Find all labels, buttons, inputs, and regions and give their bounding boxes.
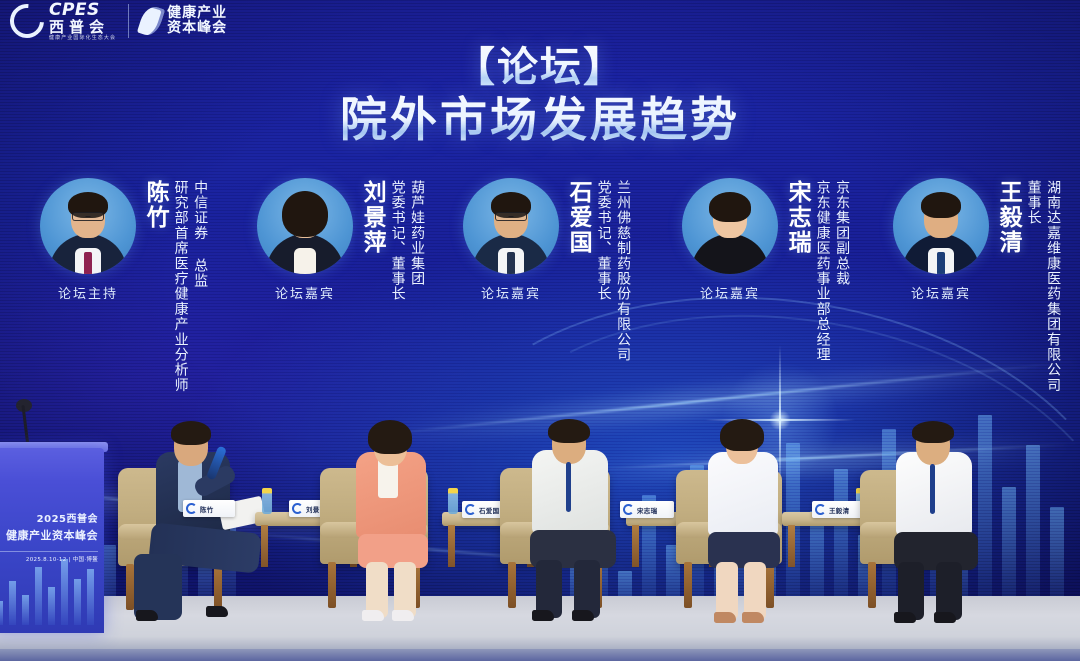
speaker-0-name: 陈竹 bbox=[143, 180, 167, 230]
forum-title-line1: 【论坛】 bbox=[0, 44, 1080, 91]
speaker-2-portrait bbox=[463, 178, 559, 274]
podium-banner: 2025西普会 健康产业资本峰会 2025.8.10-12 | 中国·博鳌 bbox=[0, 448, 104, 633]
podium-banner-text: 2025西普会 健康产业资本峰会 2025.8.10-12 | 中国·博鳌 bbox=[0, 510, 98, 563]
speaker-1-titles: 葫芦娃药业集团 党委书记、董事长 bbox=[386, 180, 425, 302]
panelist-2-person bbox=[520, 420, 630, 625]
speaker-2-name: 石爱国 bbox=[566, 180, 590, 255]
cpes-logo: CPES 西普会 健康产业国际化生态大会 bbox=[10, 2, 116, 41]
speaker-card-0: 论坛主持 陈竹 中信证券 总监 研究部首席医疗健康产业分析师 bbox=[36, 178, 208, 393]
speaker-4-title-line-1: 董事长 bbox=[1024, 180, 1042, 393]
panelist-4-person bbox=[884, 422, 994, 624]
nameplate-3-logo-icon bbox=[623, 504, 634, 515]
speaker-3-role: 论坛嘉宾 bbox=[700, 283, 760, 302]
speaker-2-glasses-icon bbox=[495, 212, 527, 221]
speaker-4-portrait bbox=[893, 178, 989, 274]
cpes-logo-cn: 西普会 bbox=[49, 20, 116, 36]
speaker-3-portrait bbox=[682, 178, 778, 274]
speaker-1-name: 刘景萍 bbox=[360, 180, 384, 255]
nameplate-0: 陈竹 bbox=[183, 500, 235, 517]
nameplate-2-name: 石爱国 bbox=[479, 505, 499, 515]
speaker-4-name: 王毅清 bbox=[996, 180, 1020, 255]
forum-title-block: 【论坛】 院外市场发展趋势 bbox=[0, 44, 1080, 148]
speaker-cards: 论坛主持 陈竹 中信证券 总监 研究部首席医疗健康产业分析师 论坛嘉宾 刘景萍 bbox=[0, 178, 1080, 438]
speaker-4-titles: 湖南达嘉维康医药集团有限公司 董事长 bbox=[1022, 180, 1061, 393]
nameplate-1-logo-icon bbox=[292, 503, 303, 514]
speaker-2-role: 论坛嘉宾 bbox=[481, 283, 541, 302]
leaf-icon bbox=[137, 4, 165, 39]
speaker-1-title-line-0: 葫芦娃药业集团 bbox=[408, 180, 426, 302]
health-logo-line2: 资本峰会 bbox=[167, 21, 227, 36]
nameplate-4-logo-icon bbox=[815, 504, 826, 515]
water-bottle-0 bbox=[262, 488, 272, 514]
stage-riser-edge bbox=[0, 649, 1080, 661]
panelist-0-person bbox=[142, 424, 262, 624]
speaker-4-role: 论坛嘉宾 bbox=[911, 283, 971, 302]
speaker-card-2: 论坛嘉宾 石爱国 兰州佛慈制药股份有限公司 党委书记、董事长 bbox=[459, 178, 631, 362]
nameplate-0-logo-icon bbox=[186, 503, 197, 514]
speaker-2-title-line-1: 党委书记、董事长 bbox=[594, 180, 612, 362]
event-logo-bar: CPES 西普会 健康产业国际化生态大会 健康产业 资本峰会 bbox=[10, 2, 227, 41]
nameplate-4: 王毅清 bbox=[812, 501, 866, 518]
panelist-1-person bbox=[340, 424, 450, 624]
nameplate-0-name: 陈竹 bbox=[200, 504, 214, 514]
nameplate-4-name: 王毅清 bbox=[829, 505, 849, 515]
forum-title-line2: 院外市场发展趋势 bbox=[0, 95, 1080, 148]
speaker-2-titles: 兰州佛慈制药股份有限公司 党委书记、董事长 bbox=[592, 180, 631, 362]
nameplate-3-name: 宋志瑞 bbox=[637, 505, 657, 515]
water-bottle-1 bbox=[448, 488, 458, 514]
logo-divider bbox=[128, 4, 129, 38]
speaker-3-titles: 京东集团副总裁 京东健康医药事业部总经理 bbox=[811, 180, 850, 362]
speaker-1-portrait bbox=[257, 178, 353, 274]
speaker-1-title-line-1: 党委书记、董事长 bbox=[388, 180, 406, 302]
podium-line-2: 健康产业资本峰会 bbox=[0, 527, 98, 543]
nameplate-3: 宋志瑞 bbox=[620, 501, 674, 518]
speaker-card-4: 论坛嘉宾 王毅清 湖南达嘉维康医药集团有限公司 董事长 bbox=[889, 178, 1061, 393]
speaker-card-3: 论坛嘉宾 宋志瑞 京东集团副总裁 京东健康医药事业部总经理 bbox=[678, 178, 850, 362]
podium-chart-motif bbox=[0, 555, 104, 625]
cpes-logo-sub: 健康产业国际化生态大会 bbox=[49, 36, 116, 41]
conference-stage-photo: CPES 西普会 健康产业国际化生态大会 健康产业 资本峰会 【论坛】 院外市场… bbox=[0, 0, 1080, 661]
speaker-1-role: 论坛嘉宾 bbox=[275, 283, 335, 302]
speaker-0-role: 论坛主持 bbox=[58, 283, 118, 302]
podium-line-3: 2025.8.10-12 | 中国·博鳌 bbox=[0, 551, 98, 563]
panelist-4-lanyard bbox=[930, 464, 935, 514]
cpes-ring-icon bbox=[3, 0, 51, 45]
speaker-4-title-line-0: 湖南达嘉维康医药集团有限公司 bbox=[1044, 180, 1062, 393]
speaker-0-titles: 中信证券 总监 研究部首席医疗健康产业分析师 bbox=[169, 180, 208, 393]
speaker-0-title-line-0: 中信证券 总监 bbox=[191, 180, 209, 393]
panelist-2-lanyard bbox=[566, 462, 571, 512]
speaker-2-title-line-0: 兰州佛慈制药股份有限公司 bbox=[614, 180, 632, 362]
speaker-0-portrait bbox=[40, 178, 136, 274]
speaker-3-name: 宋志瑞 bbox=[785, 180, 809, 255]
health-capital-logo: 健康产业 资本峰会 bbox=[141, 6, 227, 36]
nameplate-2-logo-icon bbox=[465, 504, 476, 515]
speaker-0-title-line-1: 研究部首席医疗健康产业分析师 bbox=[171, 180, 189, 393]
speaker-card-1: 论坛嘉宾 刘景萍 葫芦娃药业集团 党委书记、董事长 bbox=[253, 178, 425, 302]
speaker-3-title-line-1: 京东健康医药事业部总经理 bbox=[813, 180, 831, 362]
podium-line-1: 2025西普会 bbox=[0, 510, 98, 525]
speaker-0-glasses-icon bbox=[72, 212, 104, 221]
speaker-3-title-line-0: 京东集团副总裁 bbox=[833, 180, 851, 362]
